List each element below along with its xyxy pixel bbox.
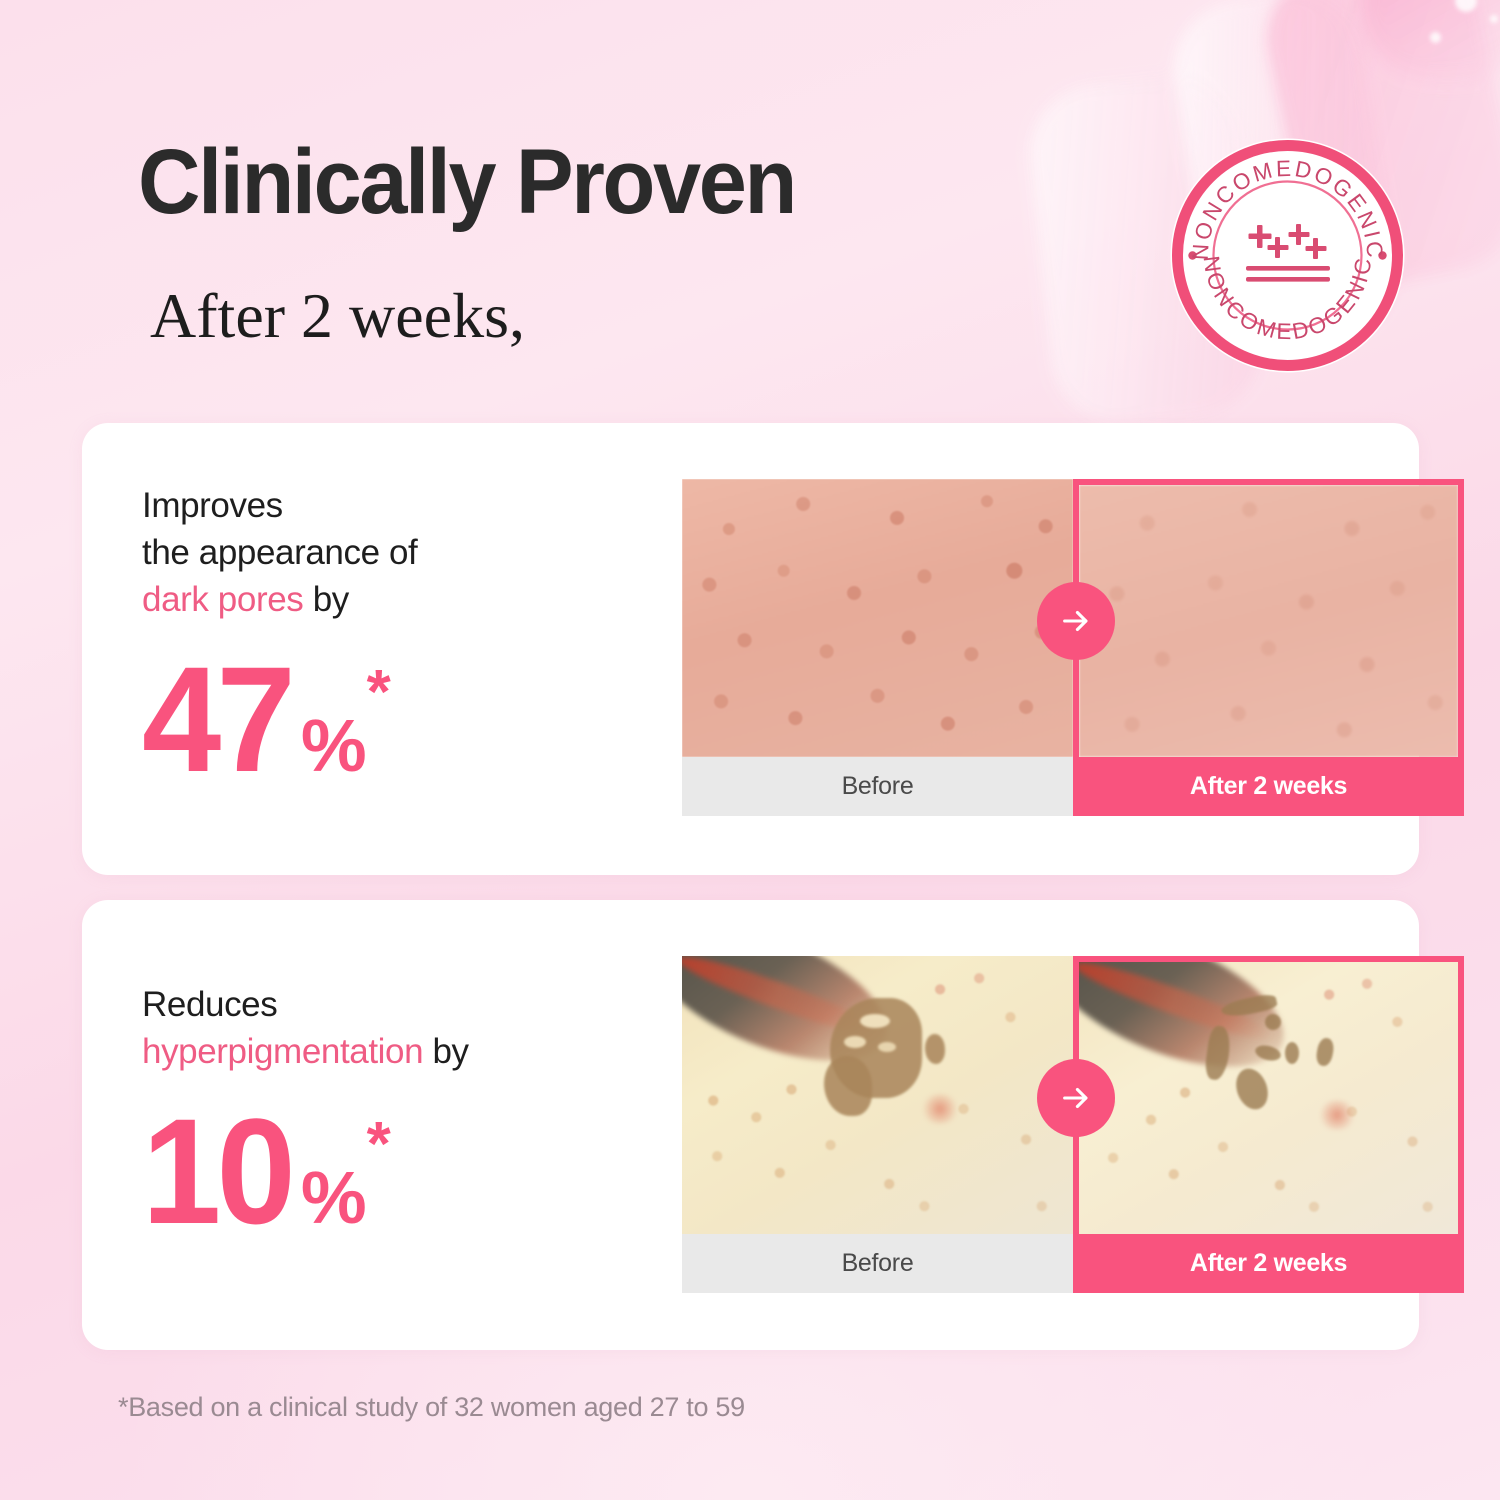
pigment-fragment-6	[1285, 1042, 1299, 1064]
pigment-patch-side	[925, 1034, 945, 1064]
pigment-gap-1	[860, 1014, 890, 1028]
sparkle-icon-3	[1490, 15, 1498, 23]
claim-statement: Reduces hyperpigmentation by	[142, 982, 469, 1076]
claim-line-2: the appearance of	[142, 530, 417, 577]
footnote-text: *Based on a clinical study of 32 women a…	[118, 1392, 745, 1423]
page-title: Clinically Proven	[138, 136, 795, 228]
claim-highlight: hyperpigmentation	[142, 1032, 423, 1071]
claim-statement: Improves the appearance of dark pores by	[142, 483, 417, 624]
claim-text-block: Reduces hyperpigmentation by 10%*	[142, 982, 469, 1240]
claim-card-dark-pores: Improves the appearance of dark pores by…	[82, 423, 1419, 875]
photo-label-row: Before After 2 weeks	[682, 757, 1464, 816]
before-photo-hyperpigmentation	[682, 956, 1073, 1234]
before-after-comparison: Before After 2 weeks	[682, 956, 1464, 1293]
skin-texture-after	[1079, 485, 1458, 757]
arrow-right-icon	[1037, 582, 1115, 660]
sparkle-icon-1	[1455, 0, 1477, 12]
claim-suffix: by	[303, 580, 349, 619]
page-subtitle: After 2 weeks,	[150, 284, 525, 348]
stat-percent-sign: %	[301, 712, 365, 780]
bottle-cap-shape	[1360, 0, 1500, 80]
pigment-fragment-4	[1265, 1014, 1281, 1030]
stat-number: 10	[142, 1102, 291, 1240]
pigment-gap-3	[878, 1042, 896, 1052]
stat-value: 10%*	[142, 1102, 469, 1240]
before-after-comparison: Before After 2 weeks	[682, 479, 1464, 816]
after-photo-dark-pores	[1073, 479, 1464, 757]
after-photo-hyperpigmentation	[1073, 956, 1464, 1234]
claim-line-1: Reduces	[142, 982, 469, 1029]
claim-text-block: Improves the appearance of dark pores by…	[142, 483, 417, 788]
sparkle-icon-2	[1430, 32, 1441, 43]
pigment-gap-2	[844, 1036, 866, 1048]
claim-suffix: by	[423, 1032, 469, 1071]
claim-card-hyperpigmentation: Reduces hyperpigmentation by 10%*	[82, 900, 1419, 1350]
claim-line-1: Improves	[142, 483, 417, 530]
stat-value: 47%*	[142, 650, 417, 788]
pigment-patch-lower	[824, 1056, 872, 1116]
stat-percent-sign: %	[301, 1164, 365, 1232]
stat-asterisk: *	[367, 664, 386, 721]
after-label: After 2 weeks	[1073, 1234, 1464, 1293]
skin-texture-before	[682, 479, 1073, 757]
before-label: Before	[682, 1234, 1073, 1293]
stat-asterisk: *	[367, 1116, 386, 1173]
stat-number: 47	[142, 650, 291, 788]
infographic-canvas: Clinically Proven After 2 weeks, NONCOME…	[0, 0, 1500, 1500]
photo-row	[682, 479, 1464, 757]
arrow-right-icon	[1037, 1059, 1115, 1137]
photo-label-row: Before After 2 weeks	[682, 1234, 1464, 1293]
before-label: Before	[682, 757, 1073, 816]
red-blemish	[920, 1094, 960, 1124]
before-photo-dark-pores	[682, 479, 1073, 757]
after-label: After 2 weeks	[1073, 757, 1464, 816]
claim-line-2: hyperpigmentation by	[142, 1029, 469, 1076]
noncomedogenic-badge: NONCOMEDOGENIC NONCOMEDOGENIC	[1168, 136, 1407, 375]
claim-highlight: dark pores	[142, 580, 303, 619]
photo-row	[682, 956, 1464, 1234]
claim-line-3: dark pores by	[142, 577, 417, 624]
red-blemish	[1317, 1100, 1357, 1130]
